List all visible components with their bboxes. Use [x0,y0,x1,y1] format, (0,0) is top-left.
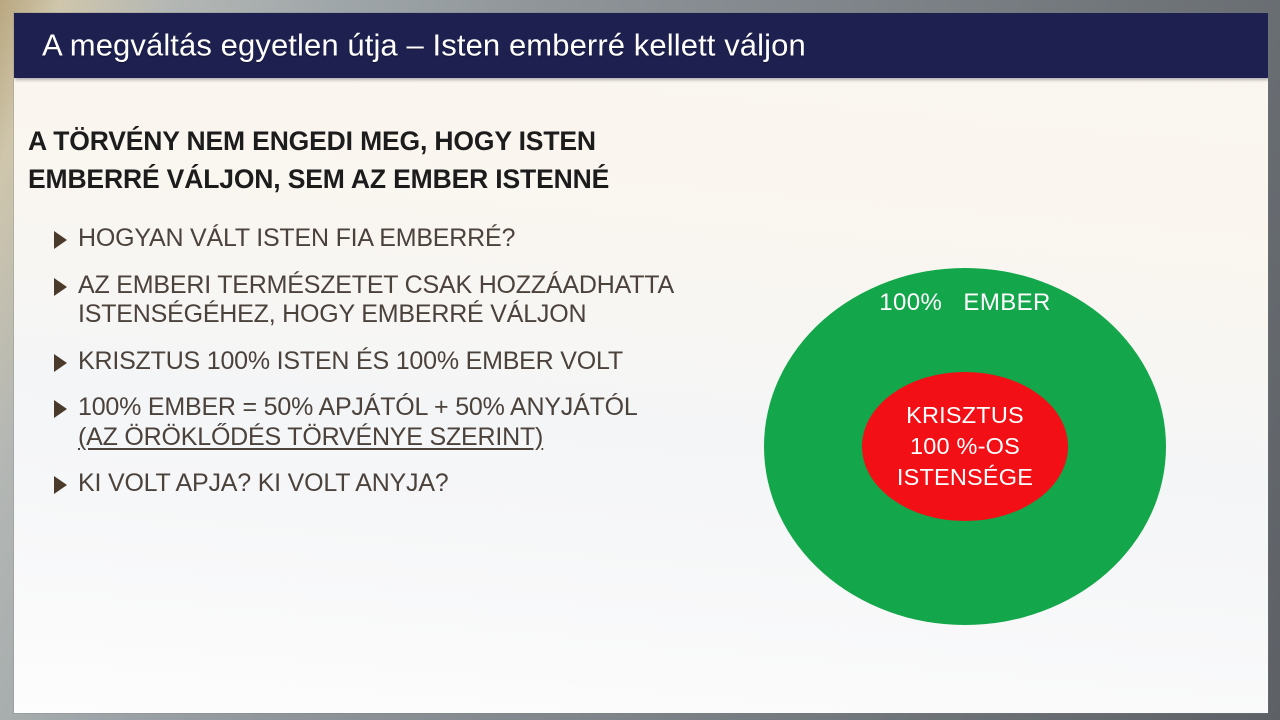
outer-ellipse-ember: 100% EMBER KRISZTUS 100 %-OS ISTENSÉGE [764,268,1166,625]
nested-ellipse-venn-diagram: 100% EMBER KRISZTUS 100 %-OS ISTENSÉGE [764,268,1184,643]
lead-heading-line-1: A TÖRVÉNY NEM ENGEDI MEG, HOGY ISTEN [28,123,688,161]
inner-ellipse-krisztus: KRISZTUS 100 %-OS ISTENSÉGE [862,372,1068,521]
triangle-right-bullet-icon [54,476,67,494]
lead-heading-line-2: EMBERRÉ VÁLJON, SEM AZ EMBER ISTENNÉ [28,161,688,199]
list-item-text: KRISZTUS 100% ISTEN ÉS 100% EMBER VOLT [78,347,714,377]
slide-title: A megváltás egyetlen útja – Isten emberr… [42,27,806,63]
triangle-right-bullet-icon [54,400,67,418]
list-item-line: KRISZTUS 100% ISTEN ÉS 100% EMBER VOLT [78,347,714,377]
list-item-text: AZ EMBERI TERMÉSZETET CSAK HOZZÁADHATTA … [78,271,714,330]
list-item-line: 100% EMBER = 50% APJÁTÓL + 50% ANYJÁTÓL [78,393,714,423]
triangle-right-bullet-icon [54,231,67,249]
list-item-line: ISTENSÉGÉHEZ, HOGY EMBERRÉ VÁLJON [78,300,714,330]
slide-title-bar: A megváltás egyetlen útja – Isten emberr… [14,13,1268,78]
list-item: 100% EMBER = 50% APJÁTÓL + 50% ANYJÁTÓL … [54,393,714,452]
slide-canvas: A megváltás egyetlen útja – Isten emberr… [14,13,1268,713]
list-item: KRISZTUS 100% ISTEN ÉS 100% EMBER VOLT [54,347,714,377]
inner-ellipse-line-2: 100 %-OS [910,431,1020,462]
slide-content-area: A TÖRVÉNY NEM ENGEDI MEG, HOGY ISTEN EMB… [14,78,1268,713]
list-item: AZ EMBERI TERMÉSZETET CSAK HOZZÁADHATTA … [54,271,714,330]
list-item-line: HOGYAN VÁLT ISTEN FIA EMBERRÉ? [78,224,714,254]
bullet-list: HOGYAN VÁLT ISTEN FIA EMBERRÉ? AZ EMBERI… [54,224,714,499]
list-item-text: HOGYAN VÁLT ISTEN FIA EMBERRÉ? [78,224,714,254]
triangle-right-bullet-icon [54,278,67,296]
inner-ellipse-line-3: ISTENSÉGE [897,462,1033,493]
list-item-line-underlined: (AZ ÖRÖKLŐDÉS TÖRVÉNYE SZERINT) [78,423,714,453]
inner-ellipse-line-1: KRISZTUS [906,400,1024,431]
list-item-line: AZ EMBERI TERMÉSZETET CSAK HOZZÁADHATTA [78,271,714,301]
triangle-right-bullet-icon [54,354,67,372]
list-item-text: 100% EMBER = 50% APJÁTÓL + 50% ANYJÁTÓL … [78,393,714,452]
list-item-line: KI VOLT APJA? KI VOLT ANYJA? [78,469,714,499]
list-item-text: KI VOLT APJA? KI VOLT ANYJA? [78,469,714,499]
lead-heading: A TÖRVÉNY NEM ENGEDI MEG, HOGY ISTEN EMB… [28,123,688,198]
list-item: HOGYAN VÁLT ISTEN FIA EMBERRÉ? [54,224,714,254]
outer-ellipse-label: 100% EMBER [764,289,1166,317]
slide-root: A megváltás egyetlen útja – Isten emberr… [0,0,1280,720]
list-item: KI VOLT APJA? KI VOLT ANYJA? [54,469,714,499]
